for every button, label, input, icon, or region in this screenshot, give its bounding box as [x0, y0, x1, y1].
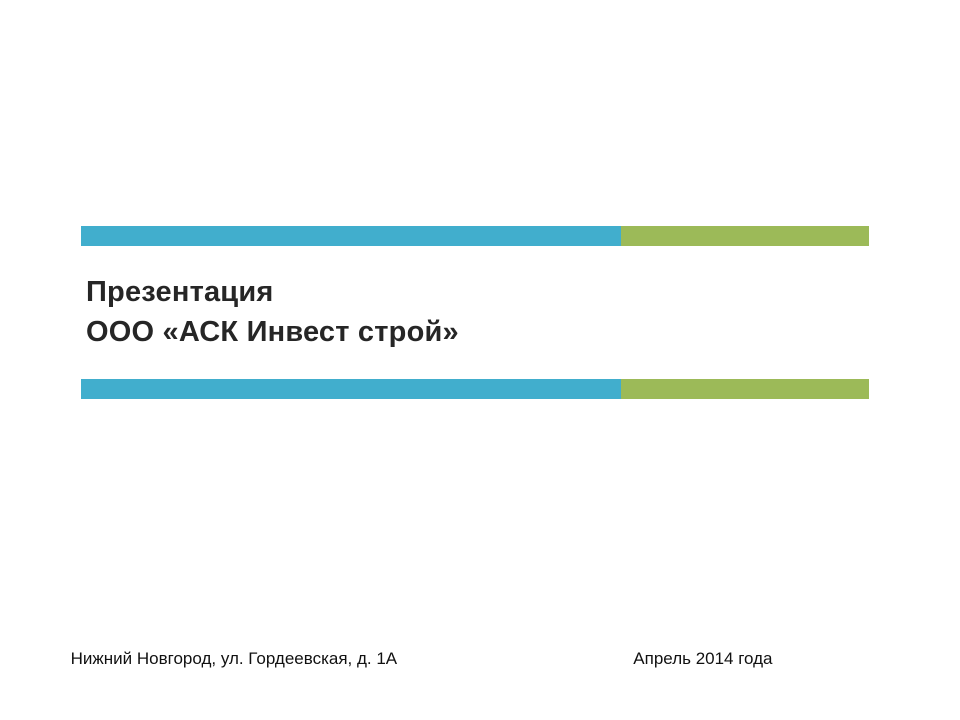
title-line-1: Презентация — [86, 272, 866, 312]
divider-bar-bottom — [81, 379, 869, 399]
divider-top-green-segment — [621, 226, 869, 246]
divider-bar-top — [81, 226, 869, 246]
divider-bottom-blue-segment — [81, 379, 621, 399]
title-slide: Презентация ООО «АСК Инвест строй» Нижни… — [0, 0, 960, 720]
slide-footer: Нижний Новгород, ул. Гордеевская, д. 1А … — [47, 645, 913, 672]
divider-top-blue-segment — [81, 226, 621, 246]
title-line-2: ООО «АСК Инвест строй» — [86, 312, 866, 352]
divider-bottom-green-segment — [621, 379, 869, 399]
footer-text: Нижний Новгород, ул. Гордеевская, д. 1А … — [47, 645, 913, 672]
page-title: Презентация ООО «АСК Инвест строй» — [86, 272, 866, 352]
